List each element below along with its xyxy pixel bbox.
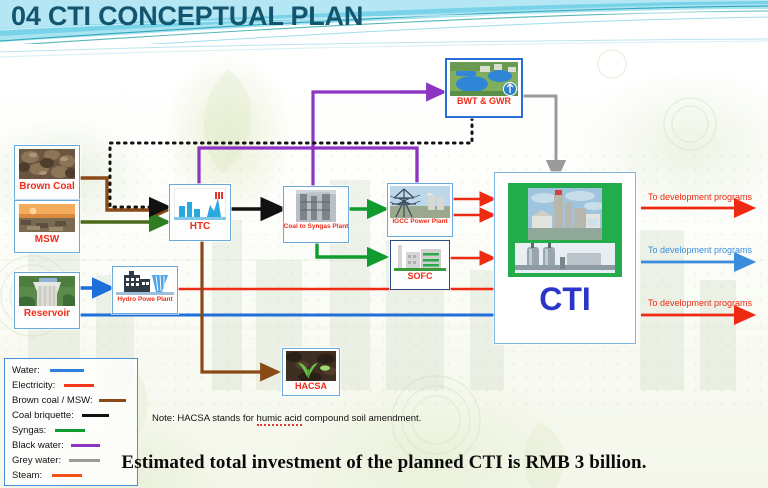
legend-swatch-brown-coal-msw (99, 399, 126, 402)
legend-label: Coal briquette: (12, 410, 74, 421)
note-suffix: compound soil amendment. (302, 413, 421, 424)
legend-item: Coal briquette: (5, 408, 137, 423)
note-emphasis: humic acid (257, 413, 302, 426)
legend-label: Electricity: (12, 380, 55, 391)
legend-item: Syngas: (5, 423, 137, 438)
legend-label: Syngas: (12, 425, 46, 436)
note-text: Note: HACSA stands for humic acid compou… (152, 413, 421, 424)
legend-swatch-electricity (64, 384, 94, 387)
note-prefix: Note: HACSA stands for (152, 413, 257, 424)
legend-swatch-syngas (55, 429, 85, 432)
investment-statement: Estimated total investment of the planne… (0, 452, 768, 474)
legend-label: Black water: (12, 440, 64, 451)
legend-label: Water: (12, 365, 40, 376)
legend-item: Electricity: (5, 378, 137, 393)
legend-item: Brown coal / MSW: (5, 393, 137, 408)
legend-swatch-water (50, 369, 84, 372)
slide-canvas: 04 CTI CONCEPTUAL PLAN (0, 0, 768, 488)
legend-swatch-black-water (71, 444, 100, 447)
legend-swatch-steam (52, 474, 82, 477)
legend-swatch-coal-briquette (82, 414, 109, 417)
legend-item: Black water: (5, 438, 137, 453)
legend-item: Water: (5, 363, 137, 378)
legend-label: Brown coal / MSW: (12, 395, 93, 406)
